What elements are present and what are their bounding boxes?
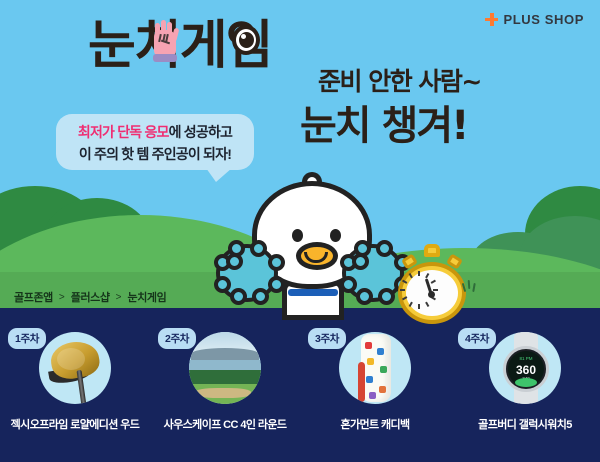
breadcrumb-item-plus-shop[interactable]: 플러스샵 <box>71 289 110 305</box>
bubble-line-1: 최저가 단독 응모에 성공하고 <box>78 122 232 142</box>
breadcrumb-separator: > <box>116 292 122 303</box>
product-thumbnail-week4[interactable]: 81 PM 360 340 <box>489 332 561 404</box>
product-badge-week4: 4주차 <box>458 328 496 349</box>
stopwatch-icon <box>393 244 471 326</box>
smart-watch-icon: 81 PM 360 340 <box>489 332 561 404</box>
product-row: 1주차 젝시오프라임 로얄에디션 우드 2주차 사우스케이프 CC 4인 라운드 <box>0 308 600 462</box>
hand-mark-icon <box>159 34 172 46</box>
title-char-1: 눈 <box>88 20 134 72</box>
product-name-week1: 젝시오프라임 로얄에디션 우드 <box>11 416 140 432</box>
product-thumbnail-week3[interactable] <box>339 332 411 404</box>
mascot-eye-left <box>292 229 303 242</box>
title-line-2: 눈치 챙겨! <box>300 93 467 151</box>
caddie-bag-icon <box>339 332 411 404</box>
breadcrumb-item-nunchi-game[interactable]: 눈치게임 <box>127 289 166 305</box>
product-badge-week2: 2주차 <box>158 328 196 349</box>
hand-cuff <box>153 54 177 62</box>
product-card-week2[interactable]: 2주차 사우스케이프 CC 4인 라운드 <box>150 308 300 462</box>
plus-shop-logo[interactable]: PLUS SHOP <box>485 12 584 27</box>
eye-icon <box>232 25 260 55</box>
logo-label: PLUS SHOP <box>503 12 584 27</box>
title-char-4: 임 <box>226 20 272 72</box>
product-badge-week3: 3주차 <box>308 328 346 349</box>
product-card-week3[interactable]: 3주차 혼가먼트 캐디백 <box>300 308 450 462</box>
breadcrumb-separator: > <box>59 292 65 303</box>
title-char-3: 게 <box>180 20 226 72</box>
product-thumbnail-week1[interactable] <box>39 332 111 404</box>
bubble-rest-1: 에 성공하고 <box>169 124 233 140</box>
product-thumbnail-week2[interactable] <box>189 332 261 404</box>
speech-bubble: 최저가 단독 응모에 성공하고 이 주의 핫 템 주인공이 되자! <box>56 114 254 170</box>
product-card-week4[interactable]: 81 PM 360 340 4주차 골프버디 갤럭시워치5 <box>450 308 600 462</box>
golf-course-icon <box>189 332 261 404</box>
plus-icon <box>485 13 498 26</box>
bubble-highlight-2: 단독 응모 <box>114 124 169 140</box>
hand-illustration <box>150 20 180 68</box>
breadcrumb: 골프존앱 > 플러스샵 > 눈치게임 <box>0 286 600 308</box>
product-name-week4: 골프버디 갤럭시워치5 <box>478 416 572 432</box>
bubble-highlight-1: 최저가 <box>78 124 114 140</box>
bubble-line-2: 이 주의 핫 템 주인공이 되자! <box>79 144 231 164</box>
promotion-page: PLUS SHOP 눈 치 게 임 준비 안한 사람~ 눈치 챙겨! 최저가 단… <box>0 0 600 462</box>
product-badge-week1: 1주차 <box>8 328 46 349</box>
product-strip: 1주차 젝시오프라임 로얄에디션 우드 2주차 사우스케이프 CC 4인 라운드 <box>0 308 600 462</box>
product-card-week1[interactable]: 1주차 젝시오프라임 로얄에디션 우드 <box>0 308 150 462</box>
golf-driver-icon <box>39 332 111 404</box>
watch-top-readout: 81 PM <box>519 357 532 362</box>
product-name-week3: 혼가먼트 캐디백 <box>340 416 409 432</box>
stopwatch-crown <box>424 244 440 257</box>
product-name-week2: 사우스케이프 CC 4인 라운드 <box>164 416 287 432</box>
breadcrumb-item-golfzon-app[interactable]: 골프존앱 <box>14 289 53 305</box>
mascot-eye-right <box>330 229 341 242</box>
watch-distance-value: 360 <box>516 364 536 376</box>
